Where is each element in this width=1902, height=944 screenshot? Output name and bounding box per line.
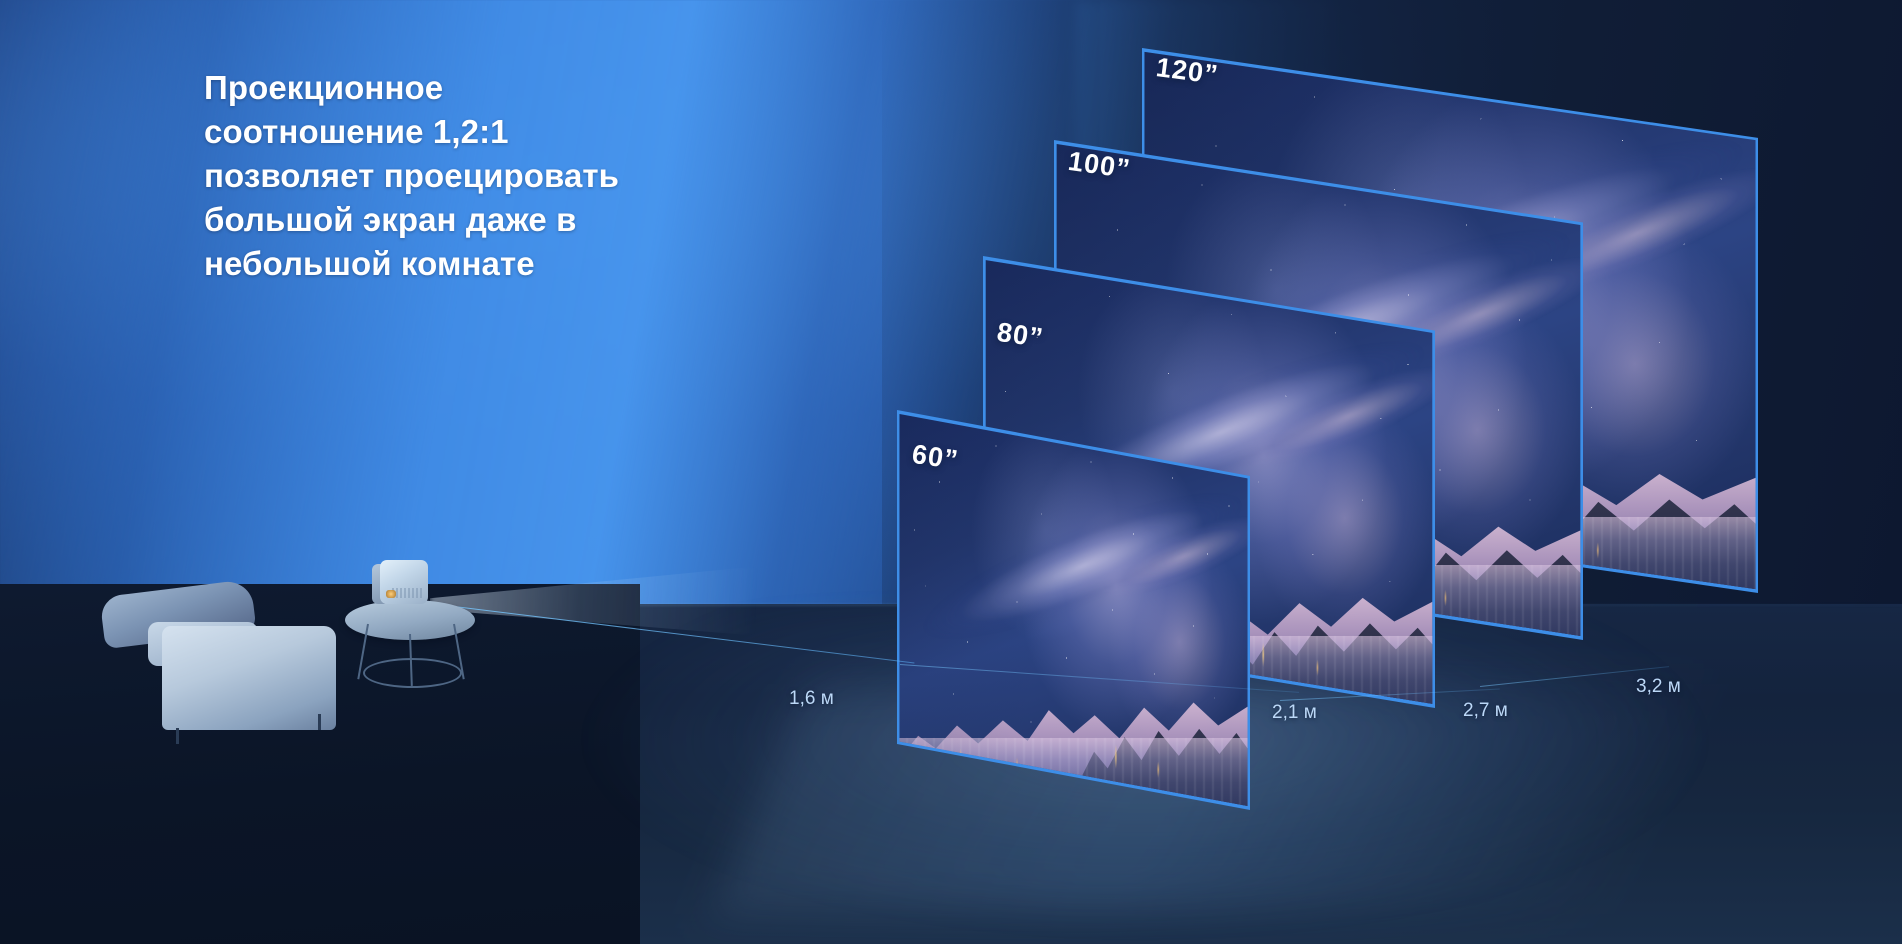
projector-promo-scene: Проекционное соотношение 1,2:1 позволяет… (0, 0, 1902, 944)
armchair-leg (318, 714, 321, 730)
screen-size-label-80: 80” (995, 317, 1045, 354)
headline-line-3: позволяет проецировать (204, 154, 764, 198)
page-title: Проекционное соотношение 1,2:1 позволяет… (204, 66, 764, 286)
headline-line-2: соотношение 1,2:1 (204, 110, 764, 154)
screen-distance-label-60: 1,6 м (789, 688, 834, 710)
screen-distance-label-80: 2,1 м (1272, 702, 1317, 724)
armchair-leg (176, 728, 179, 744)
armchair-armrest (162, 626, 336, 730)
headline-line-1: Проекционное (204, 66, 764, 110)
headline-line-5: небольшой комнате (204, 242, 764, 286)
side-table-base-ring (363, 658, 462, 688)
screen-distance-label-100: 2,7 м (1463, 700, 1508, 722)
headline-line-4: большой экран даже в (204, 198, 764, 242)
projector-lens (386, 590, 396, 598)
screen-size-label-60: 60” (910, 439, 960, 476)
projector-vent-grille (392, 588, 424, 598)
projector-device[interactable] (372, 560, 430, 612)
screen-distance-label-120: 3,2 м (1636, 676, 1681, 698)
armchair (78, 586, 328, 736)
